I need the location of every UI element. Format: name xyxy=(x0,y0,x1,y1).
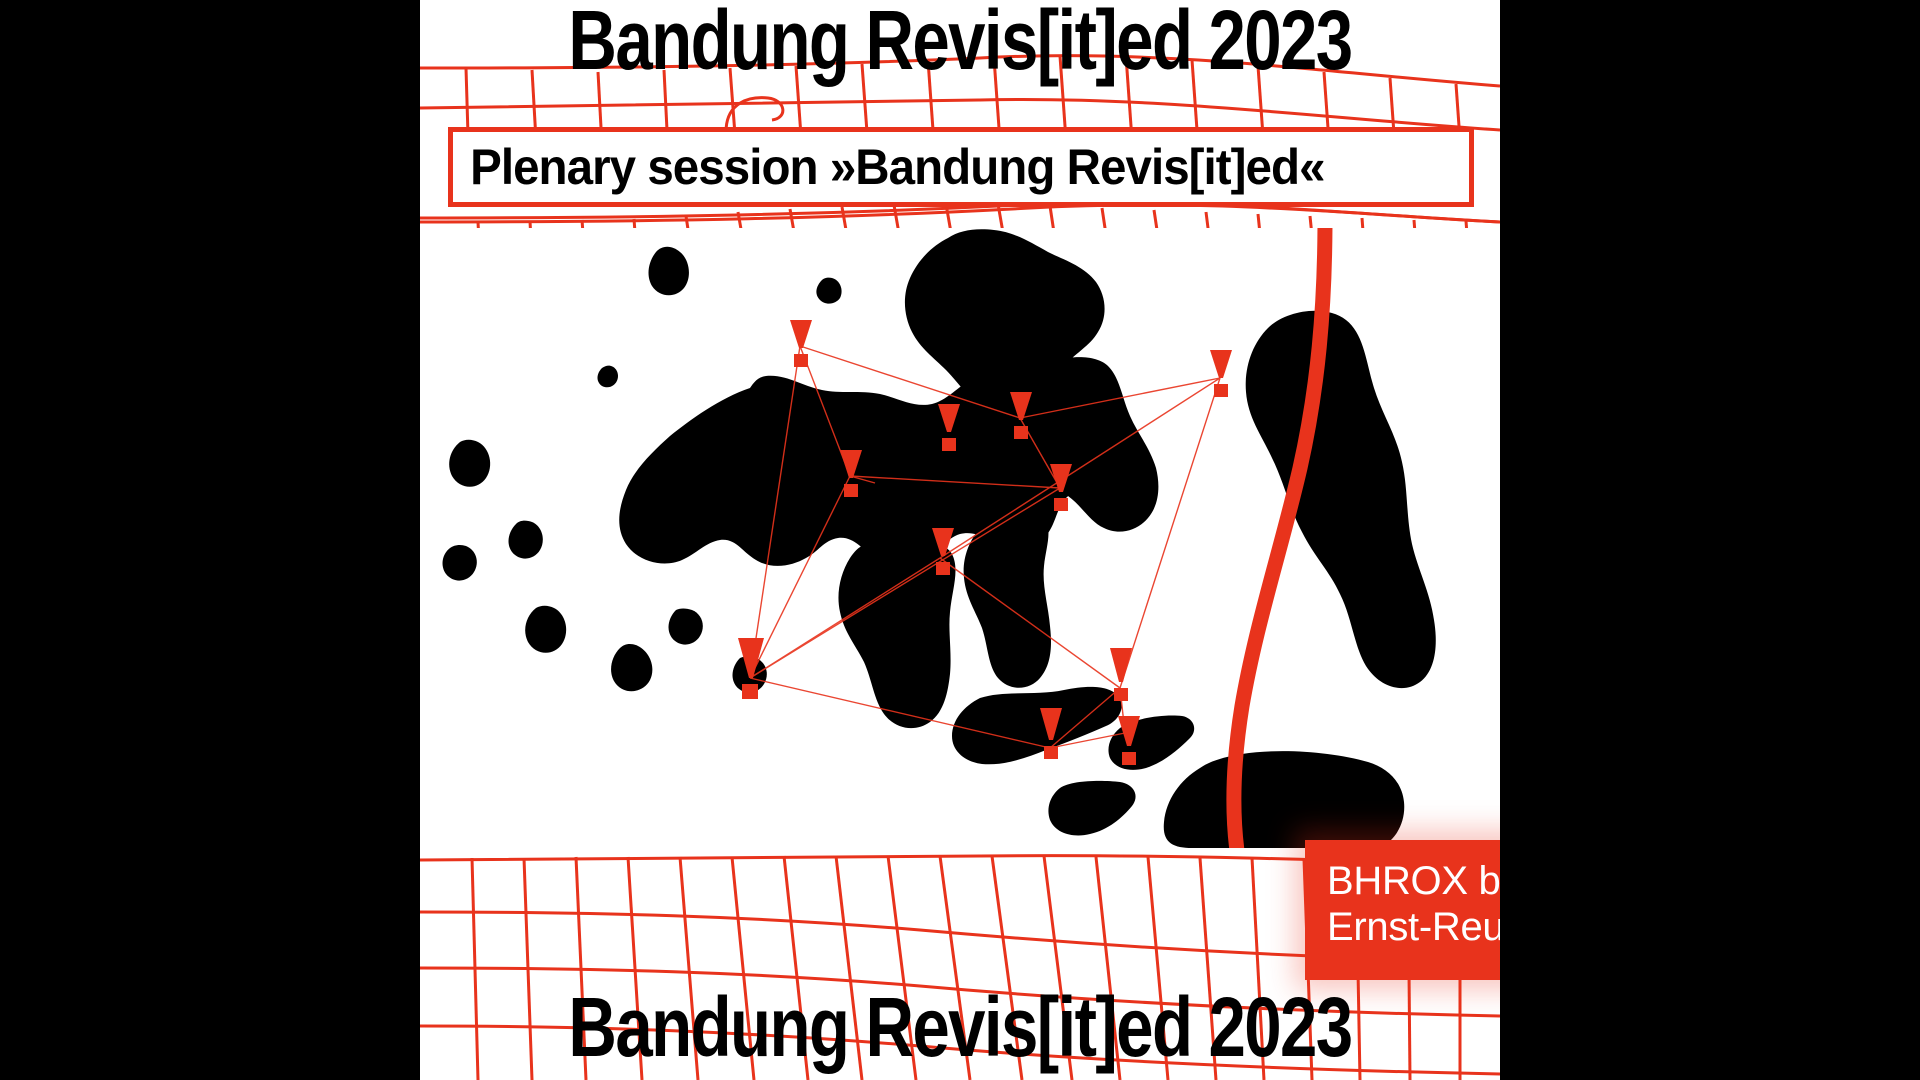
plenary-session-label: Plenary session »Bandung Revis[it]ed« xyxy=(453,142,1325,192)
page-title-top: Bandung Revis[it]ed 2023 xyxy=(528,0,1392,82)
map-svg xyxy=(420,228,1500,848)
map-pin xyxy=(1210,350,1232,397)
poster-panel: Plenary session »Bandung Revis[it]ed« Fr… xyxy=(420,0,1500,1080)
poster-stage: Plenary session »Bandung Revis[it]ed« Fr… xyxy=(0,0,1920,1080)
map-pin xyxy=(790,320,812,367)
venue-address-box: BHROX bauhaus reuse Ernst-Reuter Platz, … xyxy=(1305,840,1500,980)
venue-name: BHROX bauhaus reuse xyxy=(1327,858,1500,904)
letterbox-bar-left xyxy=(0,0,420,1080)
world-map xyxy=(420,228,1500,848)
venue-street: Ernst-Reuter Platz, 10587 Berlin xyxy=(1327,904,1500,950)
plenary-session-banner: Plenary session »Bandung Revis[it]ed« xyxy=(448,127,1474,207)
letterbox-bar-right xyxy=(1500,0,1920,1080)
page-title-bottom: Bandung Revis[it]ed 2023 xyxy=(528,985,1392,1069)
